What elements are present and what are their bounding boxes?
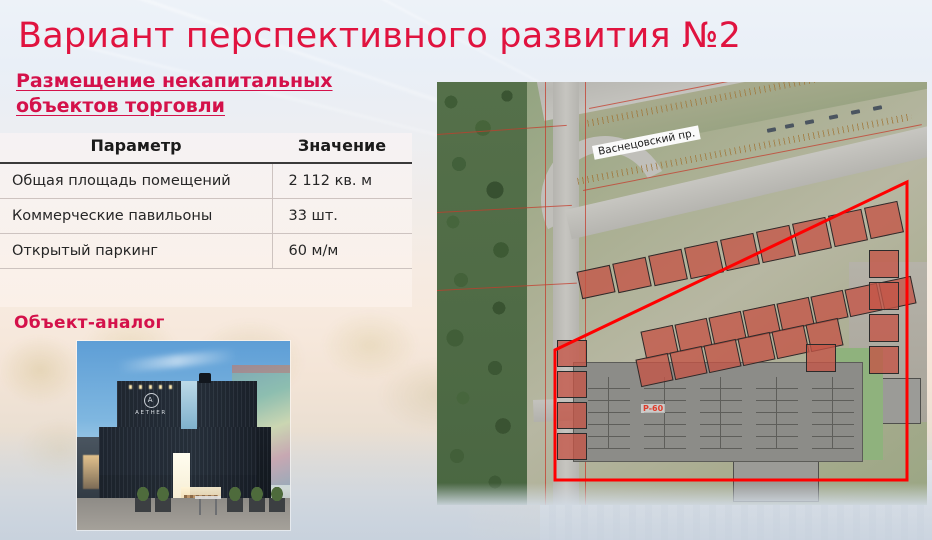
- table-header-parameter: Параметр: [0, 133, 272, 163]
- pavilion-block: [869, 282, 899, 310]
- pavilion-block: [557, 433, 587, 460]
- table-header-value: Значение: [272, 133, 412, 163]
- table-cell-value: 33 шт.: [272, 199, 412, 234]
- table-row: Открытый паркинг 60 м/м: [0, 234, 412, 269]
- parking-stall-group: [812, 377, 854, 449]
- parameters-table-panel: Параметр Значение Общая площадь помещени…: [0, 133, 412, 307]
- table-row: Коммерческие павильоны 33 шт.: [0, 199, 412, 234]
- parking-capacity-label: P-60: [641, 404, 665, 413]
- table-row: Общая площадь помещений 2 112 кв. м: [0, 163, 412, 199]
- analog-object-photo: AETHER: [77, 341, 290, 530]
- page-subtitle: Размещение некапитальных объектов торгов…: [16, 69, 386, 119]
- analog-object-label: Объект-аналог: [14, 313, 165, 333]
- table-cell-parameter: Коммерческие павильоны: [0, 199, 272, 234]
- photo-brand-name: AETHER: [135, 410, 167, 416]
- aerial-cadastral-line: [545, 82, 546, 505]
- pavilion-block: [869, 314, 899, 342]
- photo-brand-sign: AETHER: [131, 393, 171, 419]
- table-header-row: Параметр Значение: [0, 133, 412, 163]
- site-plan-aerial-image: Васнецовский пр. P-60: [437, 82, 927, 505]
- photo-window: [181, 381, 197, 429]
- pavilion-block: [557, 371, 587, 398]
- page-title: Вариант перспективного развития №2: [18, 16, 741, 56]
- table-cell-parameter: Открытый паркинг: [0, 234, 272, 269]
- slide-root: Вариант перспективного развития №2 Разме…: [0, 0, 932, 540]
- pavilion-block: [869, 346, 899, 374]
- pavilion-block: [557, 402, 587, 429]
- aerial-forest: [437, 82, 527, 505]
- parking-stall-group: [644, 377, 686, 449]
- pavilion-block: [806, 344, 836, 372]
- open-parking-lot: [573, 362, 863, 462]
- photo-planter: [269, 486, 285, 512]
- table-cell-parameter: Общая площадь помещений: [0, 163, 272, 199]
- photo-facade-lights: [129, 385, 173, 389]
- photo-brand-logo-icon: [144, 393, 159, 408]
- table-cell-value: 2 112 кв. м: [272, 163, 412, 199]
- parking-stall-group: [700, 377, 742, 449]
- table-cell-value: 60 м/м: [272, 234, 412, 269]
- pavilion-block: [869, 250, 899, 278]
- photo-planter: [135, 486, 151, 512]
- photo-planter: [155, 486, 171, 512]
- photo-roof-vent: [199, 373, 211, 383]
- photo-outdoor-table: [195, 496, 221, 516]
- parking-stall-group: [588, 377, 630, 449]
- photo-planter: [227, 486, 243, 512]
- parking-stall-group: [756, 377, 798, 449]
- parameters-table: Параметр Значение Общая площадь помещени…: [0, 133, 412, 269]
- photo-planter: [249, 486, 265, 512]
- aerial-bottom-haze: [437, 483, 927, 505]
- pavilion-block: [557, 340, 587, 367]
